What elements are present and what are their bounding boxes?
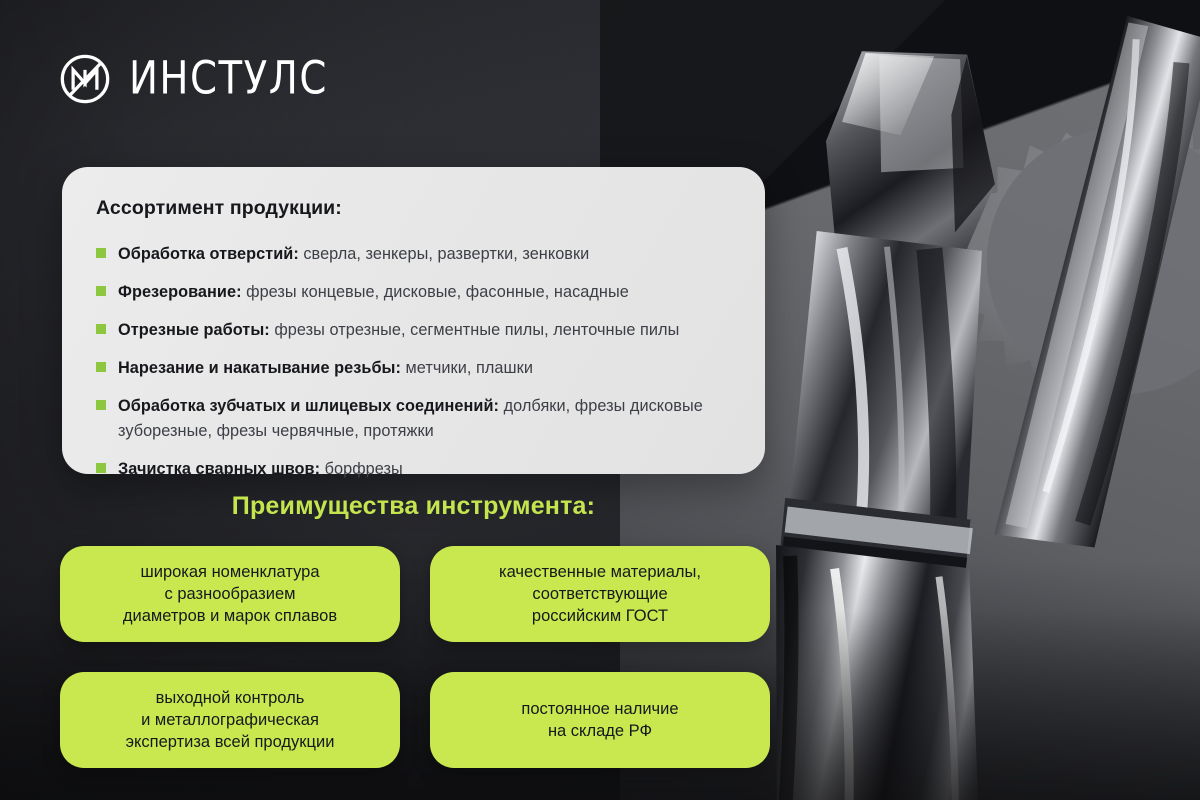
- list-item-term: Обработка зубчатых и шлицевых соединений…: [118, 397, 499, 415]
- circle-slash-monogram-icon: [58, 52, 112, 106]
- list-item-rest: метчики, плашки: [401, 359, 533, 377]
- list-item-rest: фрезы отрезные, сегментные пилы, ленточн…: [270, 321, 680, 339]
- list-item: Фрезерование: фрезы концевые, дисковые, …: [96, 280, 731, 304]
- advantage-card: постоянное наличие на складе РФ: [430, 672, 770, 768]
- advantages-grid: широкая номенклатура с разнообразием диа…: [60, 546, 770, 768]
- assortment-title: Ассортимент продукции:: [96, 197, 731, 220]
- assortment-card: Ассортимент продукции: Обработка отверст…: [62, 167, 765, 474]
- list-item: Обработка зубчатых и шлицевых соединений…: [96, 394, 731, 442]
- list-item: Обработка отверстий: сверла, зенкеры, ра…: [96, 242, 731, 266]
- green-square-bullet-icon: [96, 286, 106, 296]
- list-item-rest: фрезы концевые, дисковые, фасонные, наса…: [242, 283, 629, 301]
- green-square-bullet-icon: [96, 400, 106, 410]
- list-item-term: Обработка отверстий:: [118, 245, 299, 263]
- list-item: Отрезные работы: фрезы отрезные, сегмент…: [96, 318, 731, 342]
- list-item-term: Нарезание и накатывание резьбы:: [118, 359, 401, 377]
- promo-banner: ИНСТУЛС Ассортимент продукции: Обработка…: [0, 0, 1200, 800]
- green-square-bullet-icon: [96, 324, 106, 334]
- advantages-heading: Преимущества инструмента:: [62, 492, 765, 521]
- list-item-rest: борфрезы: [320, 460, 403, 478]
- green-square-bullet-icon: [96, 362, 106, 372]
- green-square-bullet-icon: [96, 463, 106, 473]
- brand-logo[interactable]: ИНСТУЛС: [58, 52, 328, 106]
- advantage-card: широкая номенклатура с разнообразием диа…: [60, 546, 400, 642]
- green-square-bullet-icon: [96, 248, 106, 258]
- list-item-term: Зачистка сварных швов:: [118, 460, 320, 478]
- list-item-rest: сверла, зенкеры, развертки, зенковки: [299, 245, 590, 263]
- list-item-term: Отрезные работы:: [118, 321, 270, 339]
- advantage-card: выходной контроль и металлографическая э…: [60, 672, 400, 768]
- list-item-term: Фрезерование:: [118, 283, 242, 301]
- advantage-card: качественные материалы, соответствующие …: [430, 546, 770, 642]
- assortment-list: Обработка отверстий: сверла, зенкеры, ра…: [96, 242, 731, 481]
- list-item: Зачистка сварных швов: борфрезы: [96, 457, 731, 481]
- brand-name: ИНСТУЛС: [129, 56, 328, 101]
- list-item: Нарезание и накатывание резьбы: метчики,…: [96, 356, 731, 380]
